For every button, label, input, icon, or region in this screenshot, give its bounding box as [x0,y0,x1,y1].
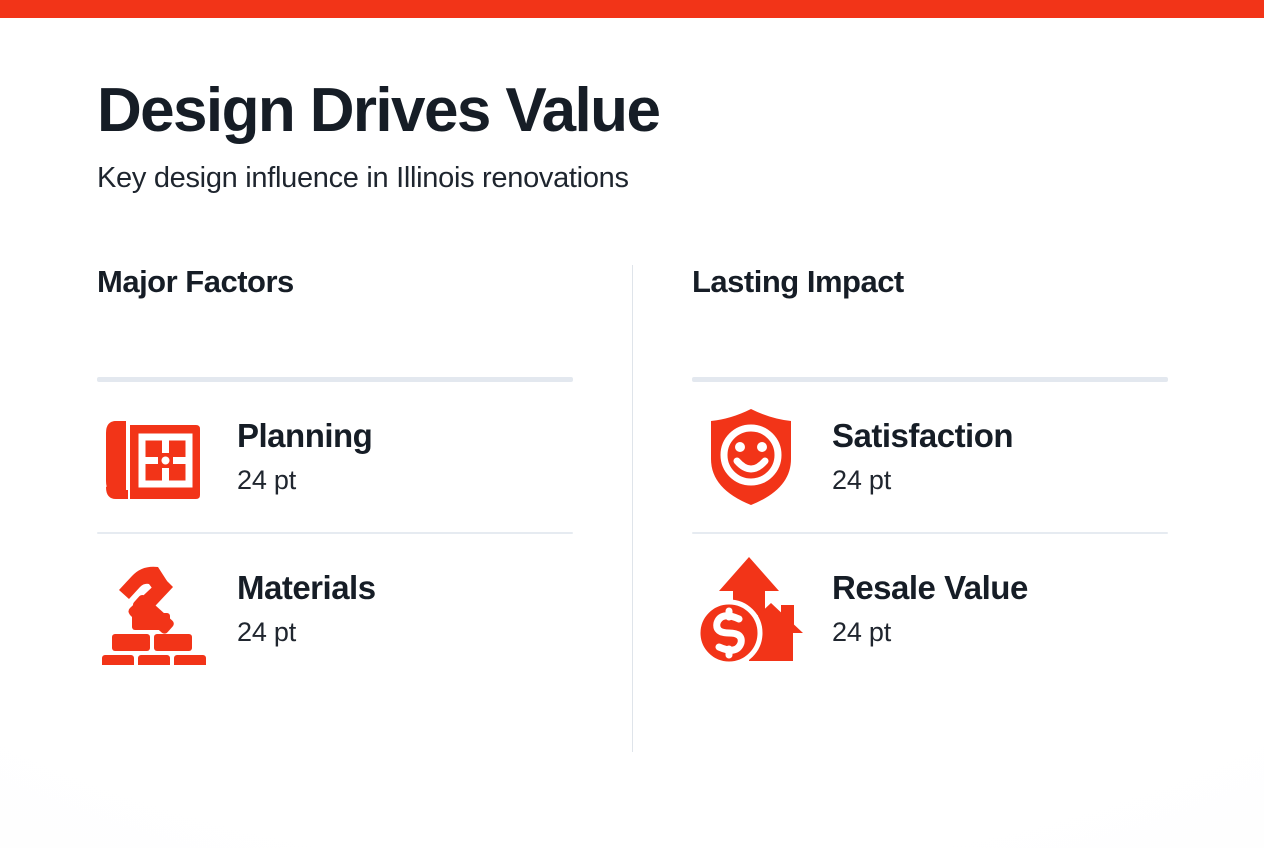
page-subtitle: Key design influence in Illinois renovat… [97,161,1177,196]
column-major-factors: Major Factors [97,265,573,684]
list-item-value: 24 pt [832,464,1013,496]
top-accent-bar [0,0,1264,18]
list-item-label: Resale Value [832,570,1028,606]
blueprint-icon [97,398,215,516]
list-item-resale-value[interactable]: Resale Value 24 pt [692,534,1168,684]
hammer-bricks-icon [97,550,215,668]
list-item-label: Planning [237,418,372,454]
list-item-label: Materials [237,570,376,606]
list-item-text: Resale Value 24 pt [832,570,1028,649]
infographic-canvas: Design Drives Value Key design influence… [0,0,1264,848]
list-item-text: Planning 24 pt [237,418,372,497]
house-arrow-dollar-icon [692,550,810,668]
column-vertical-divider [632,265,633,752]
list-item-satisfaction[interactable]: Satisfaction 24 pt [692,382,1168,532]
shield-smile-icon [692,398,810,516]
list-item-value: 24 pt [237,616,376,648]
list-item-value: 24 pt [832,616,1028,648]
list-item-label: Satisfaction [832,418,1013,454]
list-item-materials[interactable]: Materials 24 pt [97,534,573,684]
list-item-value: 24 pt [237,464,372,496]
column-lasting-impact: Lasting Impact Satisfaction 24 pt [692,265,1168,684]
page-title: Design Drives Value [97,78,1177,143]
header-block: Design Drives Value Key design influence… [97,78,1177,196]
list-item-planning[interactable]: Planning 24 pt [97,382,573,532]
list-item-text: Satisfaction 24 pt [832,418,1013,497]
column-title-major-factors: Major Factors [97,265,573,299]
list-item-text: Materials 24 pt [237,570,376,649]
columns-area: Major Factors [0,265,1264,755]
column-title-lasting-impact: Lasting Impact [692,265,1168,299]
